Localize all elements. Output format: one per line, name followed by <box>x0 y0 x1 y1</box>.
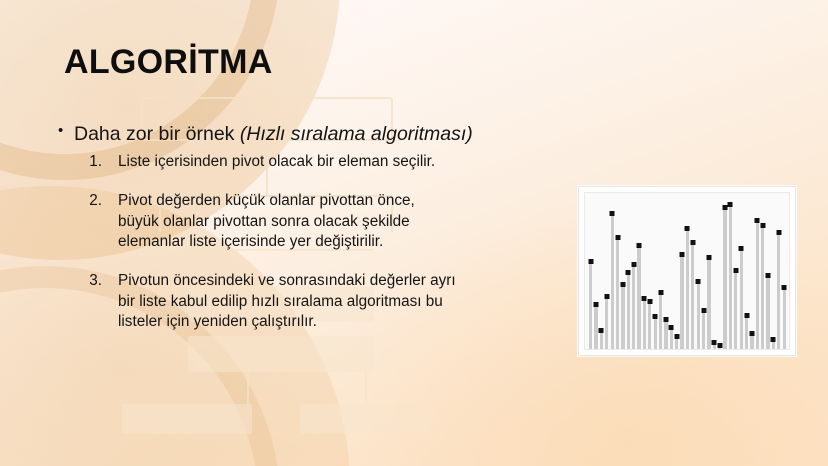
bar <box>605 297 608 349</box>
bullet-text-plain: Daha zor bir örnek <box>74 123 240 145</box>
slide-body: • Daha zor bir örnek (Hızlı sıralama alg… <box>58 122 578 332</box>
bar <box>632 265 635 349</box>
bar-chart-bars <box>588 197 787 349</box>
bar <box>772 340 775 349</box>
chart-image-frame <box>578 186 796 356</box>
bar <box>643 299 646 349</box>
bar <box>659 293 662 349</box>
bar <box>766 276 769 349</box>
bar <box>675 337 678 349</box>
list-item: 3. Pivotun öncesindeki ve sonrasındaki d… <box>78 271 578 332</box>
bar <box>680 255 683 349</box>
bullet-text-italic: (Hızlı sıralama algoritması) <box>240 123 473 145</box>
list-item-line: Pivotun öncesindeki ve sonrasındaki değe… <box>118 271 578 291</box>
bar <box>621 285 624 349</box>
bar-column <box>782 197 787 349</box>
bar-value-marker <box>782 285 787 290</box>
bullet-glyph-icon: • <box>58 121 63 140</box>
bar <box>600 331 603 349</box>
bar <box>594 305 597 349</box>
bar <box>777 233 780 349</box>
bar <box>627 273 630 349</box>
bar <box>648 302 651 349</box>
bar <box>745 316 748 349</box>
list-item: 1. Liste içerisinden pivot olacak bir el… <box>78 152 578 172</box>
bar <box>654 317 657 349</box>
bar <box>713 343 716 349</box>
bar <box>783 288 786 349</box>
bullet-item-level1: • Daha zor bir örnek (Hızlı sıralama alg… <box>58 122 578 147</box>
page-title: ALGORİTMA <box>64 44 273 81</box>
bar <box>697 282 700 349</box>
bar <box>664 320 667 349</box>
list-item-line: listeler için yeniden çalıştırılır. <box>118 312 578 332</box>
list-item-number: 3. <box>78 271 102 291</box>
bar <box>734 271 737 349</box>
bar <box>718 346 721 349</box>
numbered-list: 1. Liste içerisinden pivot olacak bir el… <box>58 152 578 332</box>
bar <box>589 262 592 349</box>
bar <box>740 249 743 349</box>
bar <box>761 226 764 349</box>
bar-chart-plot <box>584 192 790 350</box>
list-item-number: 1. <box>78 152 102 172</box>
bar <box>723 208 726 349</box>
bar <box>686 229 689 349</box>
list-item-number: 2. <box>78 191 102 211</box>
list-item-line: bir liste kabul edilip hızlı sıralama al… <box>118 292 578 312</box>
list-item-line: Liste içerisinden pivot olacak bir elema… <box>118 152 578 172</box>
list-item-line: elemanlar liste içerisinde yer değiştiri… <box>118 232 578 252</box>
bar <box>707 258 710 349</box>
bar <box>729 205 732 349</box>
bar <box>670 328 673 349</box>
bar <box>637 246 640 349</box>
list-item-line: Pivot değerden küçük olanlar pivottan ön… <box>118 191 578 211</box>
bar <box>702 311 705 349</box>
presentation-slide: ALGORİTMA • Daha zor bir örnek (Hızlı sı… <box>0 0 828 466</box>
bar <box>691 243 694 349</box>
bar <box>750 334 753 349</box>
list-item-line: büyük olanlar pivottan sonra olacak şeki… <box>118 212 578 232</box>
bar <box>616 238 619 349</box>
list-item: 2. Pivot değerden küçük olanlar pivottan… <box>78 191 578 252</box>
bar <box>756 221 759 349</box>
bar <box>611 214 614 349</box>
